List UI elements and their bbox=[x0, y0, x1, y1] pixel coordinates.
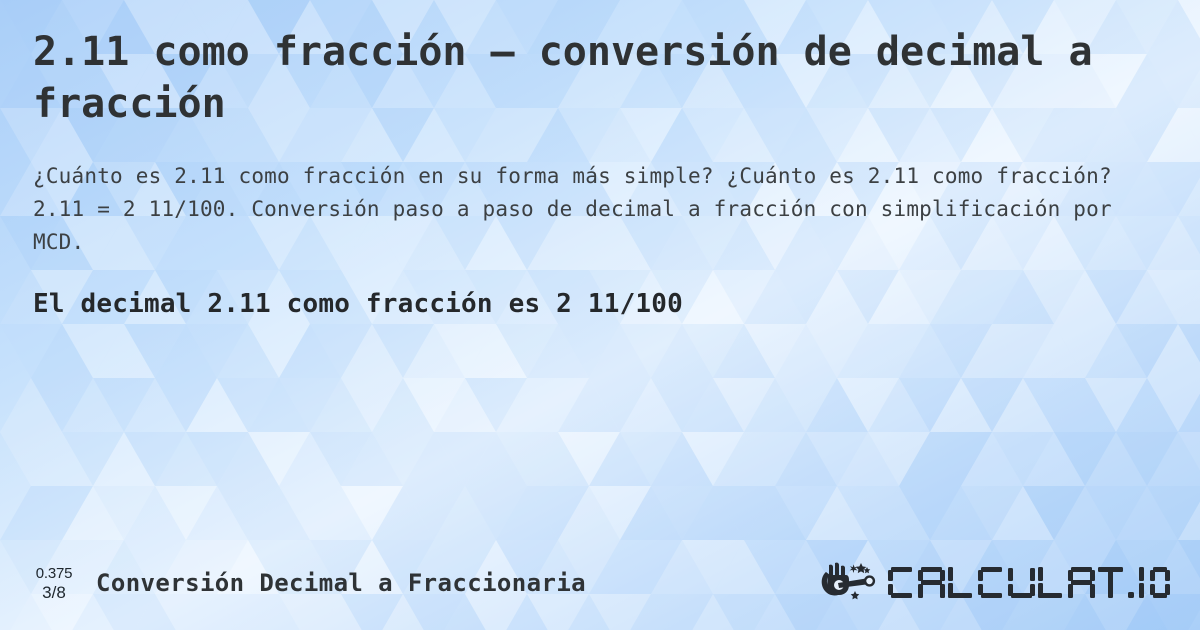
footer-brand-group: 0.375 3/8 Conversión Decimal a Fracciona… bbox=[26, 566, 586, 601]
page-title: 2.11 como fracción – conversión de decim… bbox=[33, 26, 1093, 130]
calculatio-wordmark: CALCULAT.IO bbox=[888, 563, 1170, 603]
page-description: ¿Cuánto es 2.11 como fracción en su form… bbox=[33, 160, 1143, 259]
site-logo[interactable]: CALCULAT.IO bbox=[816, 561, 1182, 605]
answer-statement: El decimal 2.11 como fracción es 2 11/10… bbox=[33, 287, 1166, 321]
decimal-to-fraction-icon-decimal: 0.375 bbox=[36, 566, 73, 581]
card-content: 2.11 como fracción – conversión de decim… bbox=[0, 0, 1200, 630]
decimal-to-fraction-icon-fraction: 3/8 bbox=[42, 584, 66, 601]
decimal-to-fraction-icon: 0.375 3/8 bbox=[26, 566, 82, 601]
footer-bar: 0.375 3/8 Conversión Decimal a Fracciona… bbox=[0, 544, 1200, 630]
magic-wand-hand-icon bbox=[816, 561, 882, 605]
og-image-card: 2.11 como fracción – conversión de decim… bbox=[0, 0, 1200, 630]
footer-label: Conversión Decimal a Fraccionaria bbox=[96, 569, 586, 597]
